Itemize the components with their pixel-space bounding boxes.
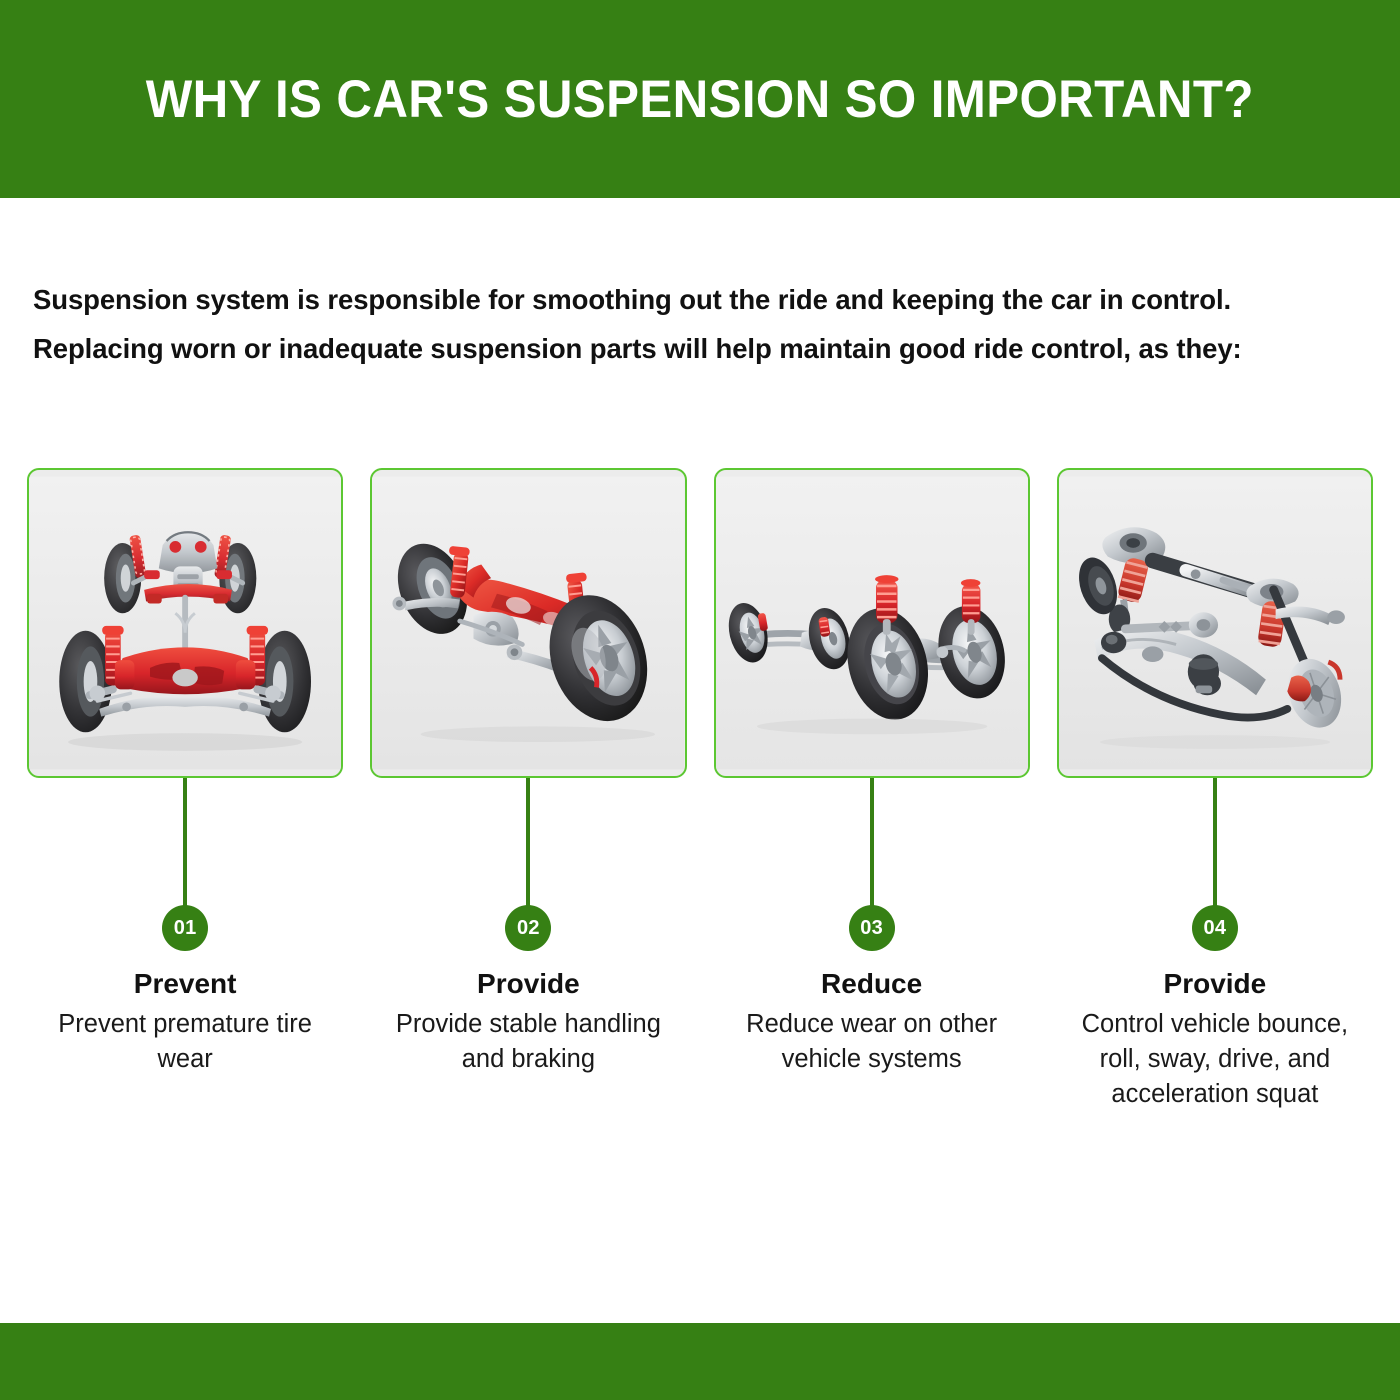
caption-description-4: Control vehicle bounce, roll, sway, driv… xyxy=(1060,1007,1370,1112)
connector-line-2 xyxy=(526,778,530,906)
caption-title-3: Reduce xyxy=(821,967,922,1001)
intro-paragraph: Suspension system is responsible for smo… xyxy=(33,275,1323,373)
caption-column-4: 04 Provide Control vehicle bounce, roll,… xyxy=(1057,778,1373,1112)
connector-line-4 xyxy=(1213,778,1217,906)
caption-row: 01 Prevent Prevent premature tire wear 0… xyxy=(27,778,1373,1112)
front-and-rear-axle-assembly-illustration xyxy=(29,470,341,776)
suspension-linkage-cutaway-illustration xyxy=(1059,470,1371,776)
rear-axle-subframe-illustration xyxy=(372,470,684,776)
card-image-row xyxy=(27,468,1373,778)
caption-description-1: Prevent premature tire wear xyxy=(30,1007,340,1077)
caption-column-2: 02 Provide Provide stable handling and b… xyxy=(370,778,686,1112)
caption-title-2: Provide xyxy=(477,967,580,1001)
card-image-3 xyxy=(714,468,1030,778)
footer-banner xyxy=(0,1323,1400,1400)
infographic-page: WHY IS CAR'S SUSPENSION SO IMPORTANT? Su… xyxy=(0,0,1400,1400)
header-banner: WHY IS CAR'S SUSPENSION SO IMPORTANT? xyxy=(0,0,1400,198)
step-badge-4: 04 xyxy=(1192,905,1238,951)
connector-line-1 xyxy=(183,778,187,906)
caption-column-1: 01 Prevent Prevent premature tire wear xyxy=(27,778,343,1112)
caption-column-3: 03 Reduce Reduce wear on other vehicle s… xyxy=(714,778,1030,1112)
card-image-1 xyxy=(27,468,343,778)
card-image-4 xyxy=(1057,468,1373,778)
step-badge-3: 03 xyxy=(849,905,895,951)
caption-title-4: Provide xyxy=(1164,967,1267,1001)
card-image-2 xyxy=(370,468,686,778)
caption-title-1: Prevent xyxy=(134,967,237,1001)
step-badge-2: 02 xyxy=(505,905,551,951)
connector-line-3 xyxy=(870,778,874,906)
page-title: WHY IS CAR'S SUSPENSION SO IMPORTANT? xyxy=(146,69,1254,130)
full-chassis-four-wheel-illustration xyxy=(716,470,1028,776)
step-badge-1: 01 xyxy=(162,905,208,951)
caption-description-3: Reduce wear on other vehicle systems xyxy=(717,1007,1027,1077)
caption-description-2: Provide stable handling and braking xyxy=(373,1007,683,1077)
